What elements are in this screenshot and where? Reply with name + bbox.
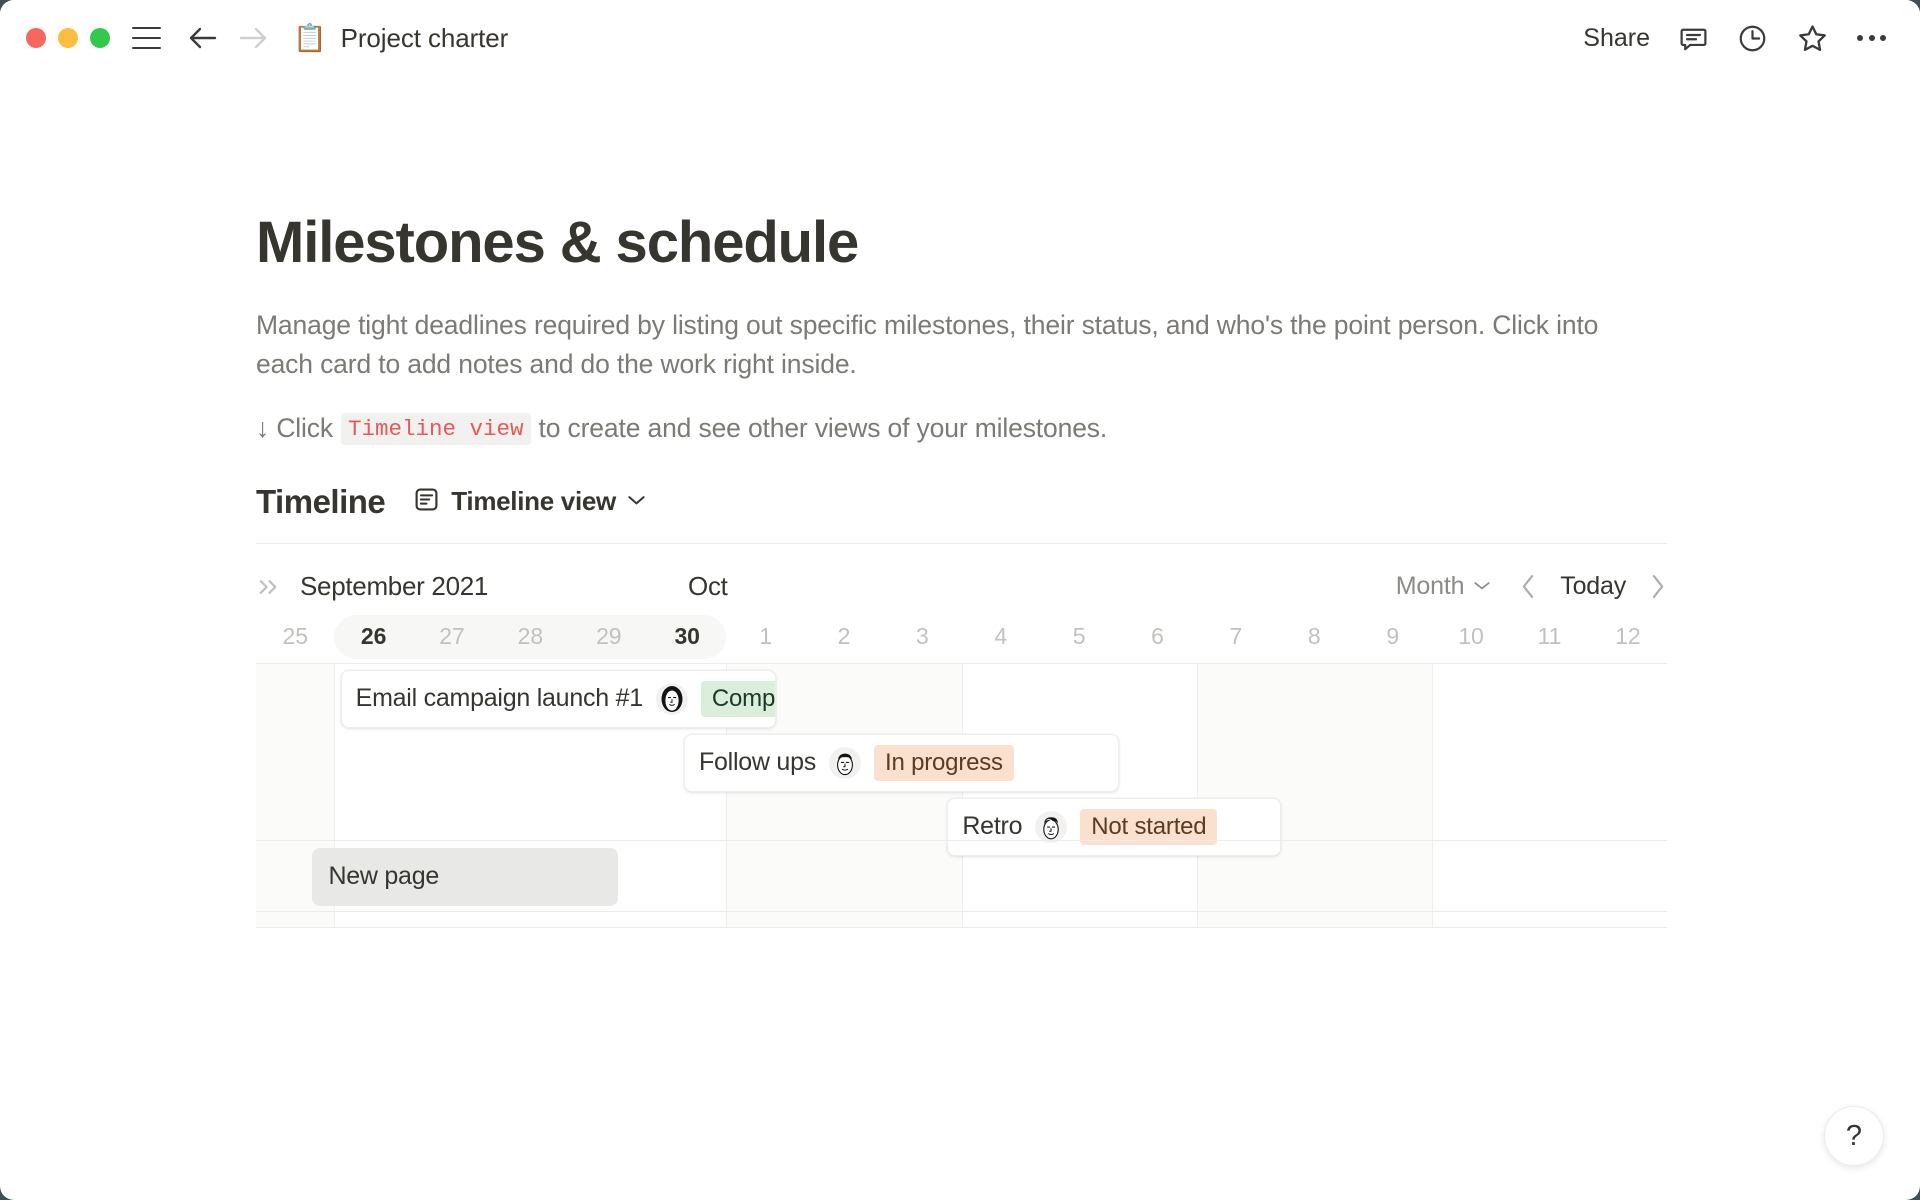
timeline-heading-row: Timeline Timeline view — [256, 483, 1920, 521]
timeline-heading: Timeline — [256, 483, 385, 521]
tab-timeline-view[interactable]: Timeline view — [413, 486, 646, 518]
page-description: Manage tight deadlines required by listi… — [256, 306, 1616, 385]
timeline-card-title: Follow ups — [699, 748, 816, 777]
date-cell-3[interactable]: 3 — [883, 615, 961, 659]
date-cell-6[interactable]: 6 — [1118, 615, 1196, 659]
timeline-new-page-row: New page — [256, 840, 1667, 912]
comment-icon[interactable] — [1678, 23, 1709, 54]
timeline-card-email-campaign[interactable]: Email campaign launch #1 Completed — [341, 670, 776, 728]
app-window: 📋 Project charter Share — [0, 0, 1920, 1200]
next-period-button[interactable] — [1648, 573, 1667, 600]
date-cell-26[interactable]: 26 — [334, 615, 412, 659]
maximize-window-button[interactable] — [90, 28, 110, 48]
new-page-button[interactable]: New page — [312, 848, 618, 906]
title-bar-actions: Share — [1583, 22, 1886, 55]
timeline-toolbar: September 2021 Oct Month Today — [256, 567, 1667, 607]
avatar — [656, 683, 688, 715]
timeline-scale-select[interactable]: Month — [1396, 572, 1491, 601]
help-button[interactable]: ? — [1824, 1106, 1884, 1166]
timeline-view-icon — [413, 486, 440, 518]
date-cell-28[interactable]: 28 — [491, 615, 569, 659]
date-cell-12[interactable]: 12 — [1589, 615, 1667, 659]
date-cell-2[interactable]: 2 — [805, 615, 883, 659]
status-badge: Completed — [701, 681, 776, 717]
timeline-card-follow-ups[interactable]: Follow ups In progress — [684, 734, 1119, 792]
date-cell-29[interactable]: 29 — [570, 615, 648, 659]
date-cell-27[interactable]: 27 — [413, 615, 491, 659]
more-options-icon[interactable] — [1857, 35, 1886, 41]
timeline-card-title: Retro — [962, 812, 1022, 841]
chevron-down-icon — [1473, 578, 1491, 596]
tab-timeline-view-label: Timeline view — [451, 486, 616, 517]
date-cell-4[interactable]: 4 — [962, 615, 1040, 659]
history-clock-icon[interactable] — [1737, 23, 1768, 54]
current-month-label: September 2021 — [300, 571, 488, 602]
new-page-label: New page — [328, 862, 439, 891]
date-cell-11[interactable]: 11 — [1510, 615, 1588, 659]
status-badge: In progress — [874, 745, 1014, 781]
today-button[interactable]: Today — [1560, 572, 1626, 601]
document-title[interactable]: Project charter — [341, 23, 509, 54]
previous-period-button[interactable] — [1519, 573, 1538, 600]
hamburger-icon[interactable] — [132, 27, 161, 50]
date-cell-1[interactable]: 1 — [726, 615, 804, 659]
next-month-label: Oct — [688, 571, 728, 602]
hint-code-chip: Timeline view — [341, 413, 531, 445]
back-arrow-icon[interactable] — [185, 23, 219, 53]
timeline-hint: ↓ Click Timeline view to create and see … — [256, 413, 1920, 445]
share-button[interactable]: Share — [1583, 24, 1650, 53]
timeline-grid: Email campaign launch #1 Completed Fol — [256, 663, 1667, 928]
title-bar: 📋 Project charter Share — [0, 0, 1920, 76]
timeline-date-strip: 252627282930123456789101112 — [256, 615, 1667, 659]
timeline-divider — [256, 543, 1667, 544]
hint-prefix: ↓ Click — [256, 413, 333, 444]
timeline-card-rows: Email campaign launch #1 Completed Fol — [256, 664, 1667, 840]
date-cell-30[interactable]: 30 — [648, 615, 726, 659]
timeline-nav-controls: Month Today — [1396, 572, 1667, 601]
timeline-date-cells: 252627282930123456789101112 — [256, 615, 1667, 659]
date-cell-9[interactable]: 9 — [1353, 615, 1431, 659]
avatar — [1035, 811, 1067, 843]
timeline-card-title: Email campaign launch #1 — [356, 684, 643, 713]
timeline-scale-label: Month — [1396, 572, 1464, 601]
collapse-chevrons-icon[interactable] — [256, 577, 283, 597]
date-cell-5[interactable]: 5 — [1040, 615, 1118, 659]
star-icon[interactable] — [1796, 22, 1829, 55]
date-cell-25[interactable]: 25 — [256, 615, 334, 659]
chevron-down-icon — [627, 493, 646, 511]
page-content: Milestones & schedule Manage tight deadl… — [0, 211, 1920, 928]
avatar — [829, 747, 861, 779]
page-title: Milestones & schedule — [256, 211, 1920, 276]
timeline-empty-row — [256, 912, 1667, 928]
traffic-lights — [26, 28, 110, 48]
hint-suffix: to create and see other views of your mi… — [539, 413, 1108, 444]
date-cell-7[interactable]: 7 — [1197, 615, 1275, 659]
minimize-window-button[interactable] — [58, 28, 78, 48]
forward-arrow-icon[interactable] — [237, 23, 271, 53]
date-cell-8[interactable]: 8 — [1275, 615, 1353, 659]
close-window-button[interactable] — [26, 28, 46, 48]
date-cell-10[interactable]: 10 — [1432, 615, 1510, 659]
clipboard-icon: 📋 — [293, 25, 327, 52]
